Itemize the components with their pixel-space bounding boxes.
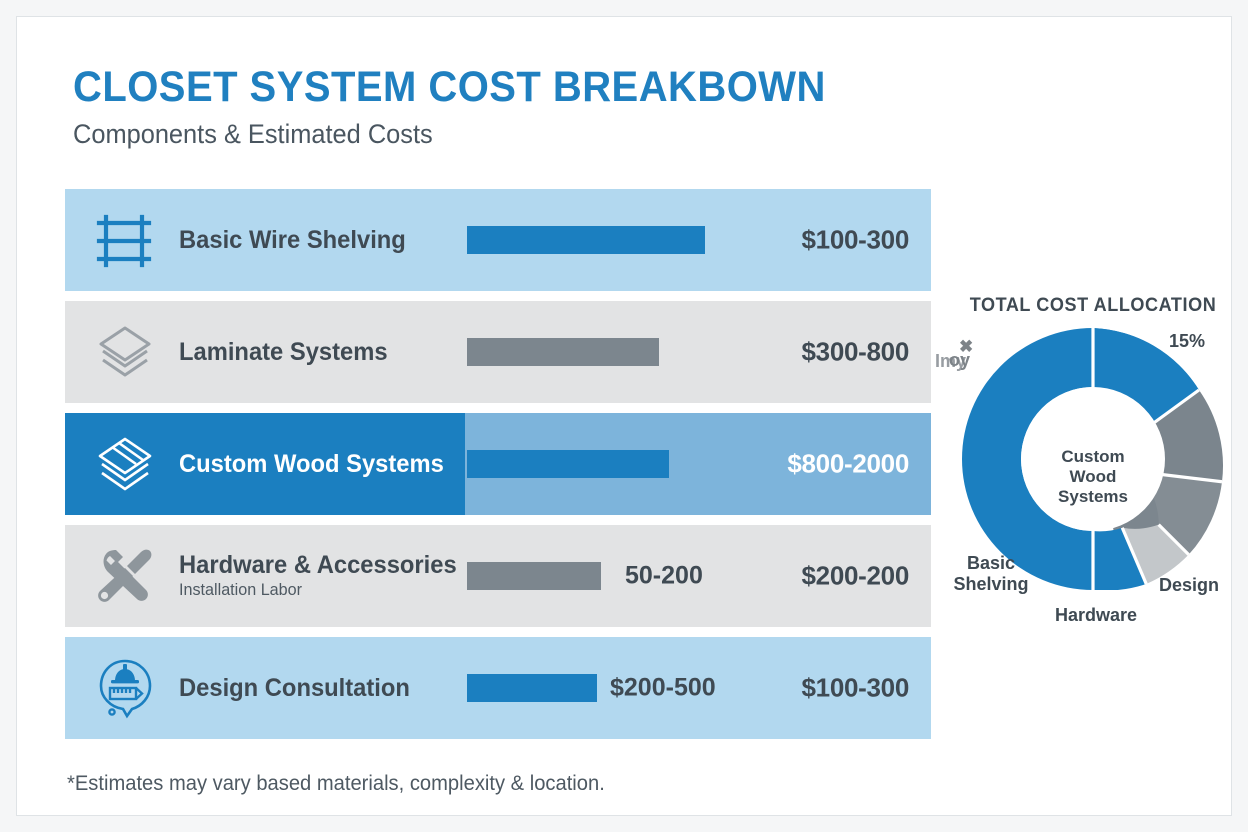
row-label-wrap: Basic Wire Shelving <box>179 227 418 253</box>
cost-row-bar-label: $200-500 <box>610 674 716 703</box>
cost-row-custom-wood-systems[interactable]: Custom Wood Systems $800-2000 <box>65 413 931 515</box>
donut-label-overlapping-garbled: Imy oy ✖ <box>935 351 966 372</box>
content-frame: CLOSET SYSTEM COST BREAKBOWN Components … <box>16 16 1232 816</box>
page-title: CLOSET SYSTEM COST BREAKBOWN <box>73 65 910 110</box>
donut-label-hardware: Hardware <box>1041 605 1151 626</box>
wire-shelving-icon <box>87 204 163 276</box>
cost-row-value: $100-300 <box>802 225 909 256</box>
hardhat-ruler-icon <box>87 652 163 724</box>
row-label-wrap: Laminate Systems <box>179 339 399 365</box>
cost-row-bar <box>467 226 705 254</box>
page-subtitle: Components & Estimated Costs <box>73 120 919 150</box>
cost-row-bar <box>467 562 601 590</box>
cost-row-value: $200-200 <box>802 561 909 592</box>
donut-label-basic-line1: Basic <box>945 553 1037 574</box>
infographic-canvas: CLOSET SYSTEM COST BREAKBOWN Components … <box>0 0 1248 832</box>
cost-row-value: $100-300 <box>802 673 909 704</box>
cost-rows-list: Basic Wire Shelving $100-300 <box>65 189 931 749</box>
cost-row-value: $800-2000 <box>787 449 909 480</box>
donut-label-design: Design <box>1159 575 1219 596</box>
donut-label-basic-shelving: Basic Shelving <box>945 553 1037 594</box>
footnote: *Estimates may vary based materials, com… <box>67 772 605 796</box>
wood-planks-icon <box>87 428 163 500</box>
cost-row-bar <box>467 450 669 478</box>
donut-center-line2: Systems <box>1038 487 1148 507</box>
cost-row-label: Custom Wood Systems <box>179 451 444 477</box>
cost-row-sublabel: Installation Labor <box>179 580 457 600</box>
wrench-screwdriver-icon <box>87 540 163 612</box>
total-cost-allocation-chart: TOTAL COST ALLOCATION <box>937 295 1248 645</box>
cost-row-design-consultation[interactable]: Design Consultation $200-500 $100-300 <box>65 637 931 739</box>
layers-icon <box>87 316 163 388</box>
cost-row-laminate-systems[interactable]: Laminate Systems $300-800 <box>65 301 931 403</box>
cost-row-bar <box>467 674 597 702</box>
cost-row-bar-label: 50-200 <box>625 562 703 591</box>
cost-row-label: Laminate Systems <box>179 339 388 365</box>
header: CLOSET SYSTEM COST BREAKBOWN Components … <box>73 65 973 150</box>
donut-label-percent: 15% <box>1169 331 1205 352</box>
cost-row-value: $300-800 <box>802 337 909 368</box>
cost-row-basic-wire-shelving[interactable]: Basic Wire Shelving $100-300 <box>65 189 931 291</box>
cost-row-label: Design Consultation <box>179 675 410 701</box>
row-label-wrap: Hardware & Accessories Installation Labo… <box>179 552 471 600</box>
donut-center-line1: Custom Wood <box>1038 447 1148 487</box>
row-label-wrap: Custom Wood Systems <box>179 451 458 477</box>
cost-row-label: Hardware & Accessories <box>179 552 457 578</box>
donut-chart-title: TOTAL COST ALLOCATION <box>945 295 1241 317</box>
donut-label-basic-line2: Shelving <box>945 574 1037 595</box>
cost-row-bar <box>467 338 659 366</box>
donut-center-label: Custom Wood Systems <box>1038 447 1148 507</box>
row-label-wrap: Design Consultation <box>179 675 422 701</box>
cost-row-label: Basic Wire Shelving <box>179 227 406 253</box>
overlap-glyph-icon: ✖ <box>959 337 973 357</box>
cost-row-hardware-accessories[interactable]: Hardware & Accessories Installation Labo… <box>65 525 931 627</box>
